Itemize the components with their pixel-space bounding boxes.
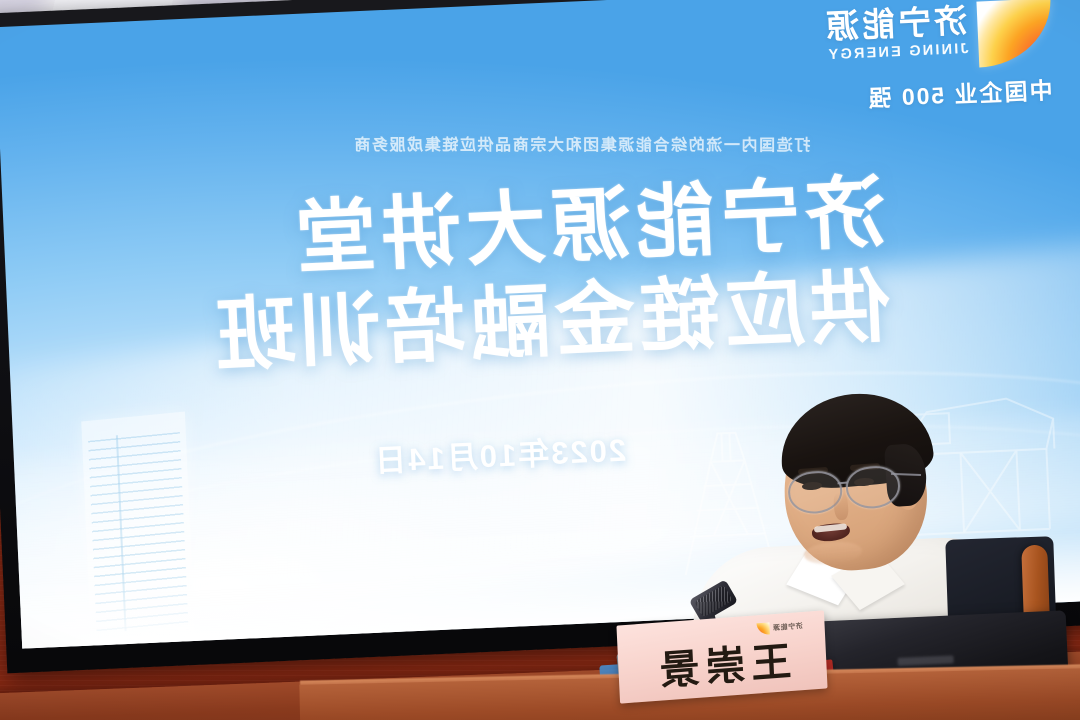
name-plate-name: 王崇景 [629,627,815,698]
slide-brand-block: 济宁能源 JINING ENERGY 中国企业 500 强 [751,0,1055,119]
slide-title: 济宁能源大讲堂 供应链金融培训班 [204,166,892,383]
slide-subtitle: 打造国内一流的综合能源集团和大宗商品供应链集成服务商 [353,131,811,155]
brand-name-cn: 济宁能源 [823,4,968,45]
slide-date: 2023年10月14日 [372,425,627,481]
fan-gradient-logo-icon [976,0,1053,68]
name-plate: 济宁能源 王崇景 [616,610,827,703]
brand-award-badge: 中国企业 500 强 [754,71,1053,118]
screenshot-root: 济宁能源 JINING ENERGY 中国企业 500 强 打造国内一流的综合能… [0,0,1080,720]
